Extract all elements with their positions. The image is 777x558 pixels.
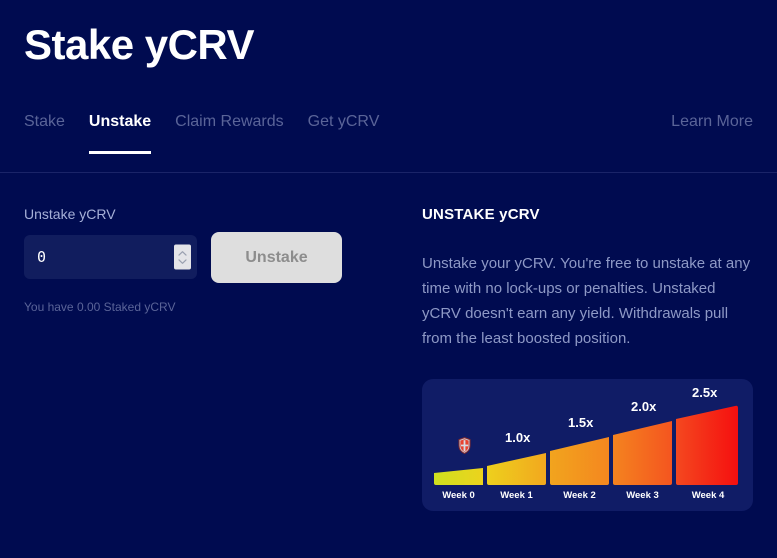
shield-icon: [458, 437, 471, 454]
boost-segment-week-2: [550, 437, 609, 485]
week-label-2: Week 2: [550, 490, 609, 501]
boost-segment-week-4: [676, 406, 738, 485]
amount-input[interactable]: [24, 235, 197, 279]
tab-list: Stake Unstake Claim Rewards Get yCRV: [24, 112, 379, 154]
boost-segment-week-1: [487, 453, 546, 485]
unstake-form-row: Unstake: [24, 235, 409, 283]
staked-balance-text: You have 0.00 Staked yCRV: [24, 299, 409, 315]
boost-label-week-2: 1.5x: [568, 415, 593, 430]
page-body: Unstake yCRV: [0, 173, 777, 558]
tab-stake[interactable]: Stake: [24, 112, 65, 154]
unstake-submit-button[interactable]: Unstake: [211, 232, 342, 283]
unstake-form-column: Unstake yCRV: [24, 173, 409, 558]
boost-chart-card: 1.0x 1.5x 2.0x 2.5x Week 0 Week 1 Week 2…: [422, 379, 753, 511]
week-label-4: Week 4: [678, 490, 738, 501]
week-label-1: Week 1: [487, 490, 546, 501]
info-panel-body: Unstake your yCRV. You're free to unstak…: [422, 251, 753, 351]
boost-segment-week-3: [613, 421, 672, 485]
tab-bar: Stake Unstake Claim Rewards Get yCRV Lea…: [24, 112, 753, 154]
boost-label-week-1: 1.0x: [505, 430, 530, 445]
amount-input-wrapper[interactable]: [24, 235, 197, 279]
info-column: UNSTAKE yCRV Unstake your yCRV. You're f…: [409, 173, 753, 558]
chevron-up-icon[interactable]: [178, 250, 187, 256]
page-title: Stake yCRV: [24, 22, 753, 68]
week-label-0: Week 0: [434, 490, 483, 501]
tab-claim-rewards[interactable]: Claim Rewards: [175, 112, 283, 154]
quantity-stepper[interactable]: [174, 245, 191, 270]
page-header: Stake yCRV Stake Unstake Claim Rewards G…: [0, 0, 777, 154]
week-label-3: Week 3: [613, 490, 672, 501]
boost-label-week-4: 2.5x: [692, 385, 717, 400]
chevron-down-icon[interactable]: [178, 258, 187, 264]
info-panel-title: UNSTAKE yCRV: [422, 205, 753, 225]
learn-more-link[interactable]: Learn More: [671, 112, 753, 154]
tab-unstake[interactable]: Unstake: [89, 112, 151, 154]
boost-label-week-3: 2.0x: [631, 399, 656, 414]
boost-segment-week-0: [434, 468, 483, 485]
app-root: Stake yCRV Stake Unstake Claim Rewards G…: [0, 0, 777, 558]
amount-field-label: Unstake yCRV: [24, 205, 409, 223]
tab-get-ycrv[interactable]: Get yCRV: [308, 112, 380, 154]
